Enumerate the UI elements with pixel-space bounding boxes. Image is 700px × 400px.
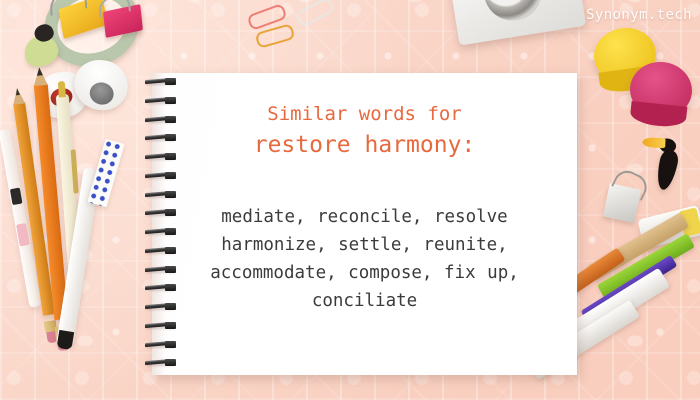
spiral-coil (143, 359, 183, 366)
spiral-coil-knob (165, 116, 176, 123)
spiral-coil-knob (165, 266, 176, 273)
pencil-lead-icon (36, 67, 43, 75)
spiral-coil (143, 172, 183, 179)
spiral-coil-knob (165, 341, 176, 348)
spiral-coil (143, 153, 183, 160)
synonym-line: mediate, reconcile, resolve (190, 203, 539, 231)
spiral-coil (143, 134, 183, 141)
spiral-coil-knob (165, 228, 176, 235)
spiral-coil (143, 284, 183, 291)
card-term: restore harmony: (152, 129, 577, 161)
spiral-coil (143, 116, 183, 123)
pencil-lead-icon (15, 88, 20, 95)
spiral-coil (143, 266, 183, 273)
card-heading-group: Similar words for restore harmony: (152, 101, 577, 161)
spiral-coil-knob (165, 172, 176, 179)
site-watermark: Synonym.tech (586, 7, 692, 23)
spiral-coil-knob (165, 359, 176, 366)
spiral-coil (143, 247, 183, 254)
spiral-coil-knob (165, 153, 176, 160)
spiral-coil (143, 78, 183, 85)
synonym-list: mediate, reconcile, resolve harmonize, s… (152, 203, 577, 315)
spiral-coil-knob (165, 134, 176, 141)
spiral-coil (143, 191, 183, 198)
spiral-coil-knob (165, 209, 176, 216)
spiral-coil-knob (165, 191, 176, 198)
card-kicker: Similar words for (152, 101, 577, 127)
spiral-coil-knob (165, 322, 176, 329)
notebook-page: Similar words for restore harmony: media… (152, 73, 577, 375)
spiral-coil-knob (165, 97, 176, 104)
spiral-coil (143, 209, 183, 216)
synonym-card: Similar words for restore harmony: media… (152, 73, 577, 315)
spiral-coil (143, 303, 183, 310)
spiral-coil (143, 228, 183, 235)
synonym-line: accommodate, compose, fix up, (190, 259, 539, 287)
synonym-line: harmonize, settle, reunite, (190, 231, 539, 259)
spiral-coil-knob (165, 247, 176, 254)
spiral-coil (143, 322, 183, 329)
spiral-coil-knob (165, 78, 176, 85)
spiral-coil-knob (165, 284, 176, 291)
spiral-coil-knob (165, 303, 176, 310)
spiral-binding (143, 76, 187, 376)
synonym-line: conciliate (190, 287, 539, 315)
spiral-coil (143, 341, 183, 348)
spiral-coil (143, 97, 183, 104)
desk-background: Similar words for restore harmony: media… (0, 0, 700, 400)
